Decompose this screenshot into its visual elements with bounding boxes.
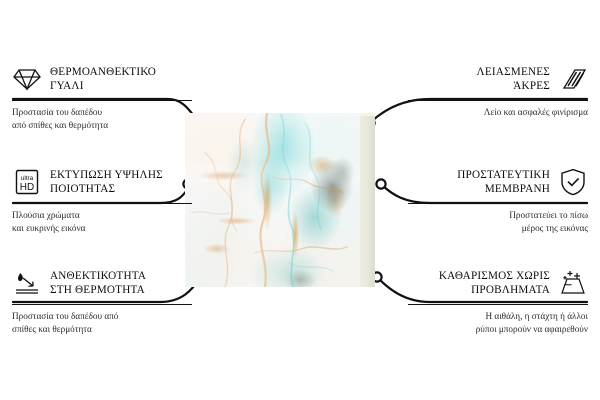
feature-block-protective-membrane: ΠΡΟΣΤΑΤΕΥΤΙΚΗ ΜΕΜΒΡΑΝΗ Προστατεύει το πί… — [408, 165, 588, 235]
feature-header: ΚΑΘΑΡΙΣΜΟΣ ΧΩΡΙΣ ΠΡΟΒΛΗΜΑΤΑ — [408, 266, 588, 300]
feature-title: ΚΑΘΑΡΙΣΜΟΣ ΧΩΡΙΣ ΠΡΟΒΛΗΜΑΤΑ — [439, 269, 550, 298]
feature-description: Προστασία του δαπέδου από σπίθες και θερ… — [12, 310, 192, 336]
feature-title: ΘΕΡΜΟΑΝΘΕΚΤΙΚΟ ΓΥΑΛΙ — [50, 65, 156, 94]
feature-header: ultra HD ΕΚΤΥΠΩΣΗ ΥΨΗΛΗΣ ΠΟΙΟΤΗΤΑΣ — [12, 165, 192, 199]
feature-divider — [12, 100, 192, 101]
easy-clean-icon — [558, 268, 588, 298]
feature-divider — [408, 203, 588, 204]
product-image — [185, 113, 375, 287]
product-side-panel — [360, 113, 375, 287]
heat-resistance-icon — [12, 268, 42, 298]
feature-header: ΠΡΟΣΤΑΤΕΥΤΙΚΗ ΜΕΜΒΡΑΝΗ — [408, 165, 588, 199]
connector-node-4 — [376, 179, 385, 188]
feature-header: ΘΕΡΜΟΑΝΘΕΚΤΙΚΟ ΓΥΑΛΙ — [12, 62, 192, 96]
ultra-hd-icon: ultra HD — [12, 167, 42, 197]
feature-title: ΛΕΙΑΣΜΕΝΕΣ ΆΚΡΕΣ — [477, 65, 550, 94]
feature-description: Προστατεύει το πίσω μέρος της εικόνας — [408, 209, 588, 235]
feature-block-heat-resistance: ΑΝΘΕΚΤΙΚΟΤΗΤΑ ΣΤΗ ΘΕΡΜΟΤΗΤΑ Προστασία το… — [12, 266, 192, 336]
marble-art-vein-lines — [185, 113, 360, 287]
diamond-icon — [12, 64, 42, 94]
feature-title: ΕΚΤΥΠΩΣΗ ΥΨΗΛΗΣ ΠΟΙΟΤΗΤΑΣ — [50, 168, 163, 197]
feature-block-easy-cleaning: ΚΑΘΑΡΙΣΜΟΣ ΧΩΡΙΣ ΠΡΟΒΛΗΜΑΤΑ Η αιθάλη, η … — [408, 266, 588, 336]
shield-check-icon — [558, 167, 588, 197]
feature-title: ΑΝΘΕΚΤΙΚΟΤΗΤΑ ΣΤΗ ΘΕΡΜΟΤΗΤΑ — [50, 269, 146, 298]
feature-header: ΛΕΙΑΣΜΕΝΕΣ ΆΚΡΕΣ — [408, 62, 588, 96]
feature-description: Λείο και ασφαλές φινίρισμα — [408, 106, 588, 119]
polished-edges-icon — [558, 64, 588, 94]
feature-block-polished-edges: ΛΕΙΑΣΜΕΝΕΣ ΆΚΡΕΣ Λείο και ασφαλές φινίρι… — [408, 62, 588, 119]
product-front-face — [185, 113, 360, 287]
feature-title: ΠΡΟΣΤΑΤΕΥΤΙΚΗ ΜΕΜΒΡΑΝΗ — [457, 168, 550, 197]
feature-description: Προστασία του δαπέδου από σπίθες και θερ… — [12, 106, 192, 132]
feature-description: Πλούσια χρώματα και ευκρινής εικόνα — [12, 209, 192, 235]
feature-divider — [408, 100, 588, 101]
ultra-hd-top-text: ultra — [21, 175, 34, 182]
product-side-top-edge — [360, 113, 375, 116]
feature-description: Η αιθάλη, η στάχτη ή άλλοι ρύποι μπορούν… — [408, 310, 588, 336]
feature-header: ΑΝΘΕΚΤΙΚΟΤΗΤΑ ΣΤΗ ΘΕΡΜΟΤΗΤΑ — [12, 266, 192, 300]
feature-divider — [408, 304, 588, 305]
ultra-hd-bottom-text: HD — [20, 182, 34, 193]
feature-block-heat-resistant-glass: ΘΕΡΜΟΑΝΘΕΚΤΙΚΟ ΓΥΑΛΙ Προστασία του δαπέδ… — [12, 62, 192, 132]
feature-divider — [12, 304, 192, 305]
feature-divider — [12, 203, 192, 204]
feature-infographic: ΘΕΡΜΟΑΝΘΕΚΤΙΚΟ ΓΥΑΛΙ Προστασία του δαπέδ… — [0, 0, 600, 400]
feature-block-high-quality-print: ultra HD ΕΚΤΥΠΩΣΗ ΥΨΗΛΗΣ ΠΟΙΟΤΗΤΑΣ Πλούσ… — [12, 165, 192, 235]
